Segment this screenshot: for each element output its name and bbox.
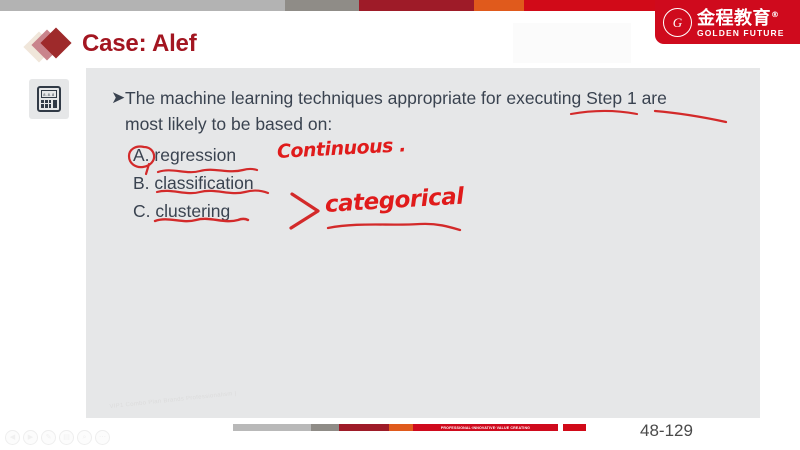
bottom-stripe-segment-dark-red	[339, 424, 389, 431]
slide-page-number: 48-129	[640, 421, 693, 441]
top-stripe-segment-light-gray	[0, 0, 285, 11]
calculator-screen: 8.8.8	[41, 90, 57, 98]
page-title: Case: Alef	[82, 29, 197, 59]
bottom-stripe-segment-dark-gray	[311, 424, 339, 431]
answer-choice-b[interactable]: B. classification	[133, 169, 254, 197]
pen-button[interactable]: ✎	[41, 430, 56, 445]
bottom-stripe-segment-orange	[389, 424, 413, 431]
bullet-arrow-icon: ➤	[111, 88, 125, 108]
zoom-button[interactable]: ⌕	[77, 430, 92, 445]
header-placeholder-box	[513, 23, 631, 63]
brand-name-cn: 金程教育®	[697, 5, 785, 28]
brand-logo: G 金程教育® GOLDEN FUTURE	[655, 0, 800, 44]
brand-seal-icon: G	[663, 8, 692, 37]
diamond-stack-icon	[28, 29, 90, 63]
bottom-stripe-segment-light-gray	[233, 424, 311, 431]
bottom-stripe-segment-red-block	[563, 424, 586, 431]
footer-tagline: PROFESSIONAL·INNOVATIVE·VALUE CREATING	[413, 424, 558, 431]
more-button[interactable]: ⋯	[95, 430, 110, 445]
bottom-stripe-segment-red-tagline: PROFESSIONAL·INNOVATIVE·VALUE CREATING	[413, 424, 558, 431]
answer-choice-a[interactable]: A. regression	[133, 141, 254, 169]
previous-slide-button[interactable]: ◀	[5, 430, 20, 445]
brand-name-en: GOLDEN FUTURE	[697, 28, 785, 39]
question-line-2: most likely to be based on:	[125, 111, 332, 137]
answer-choice-c[interactable]: C. clustering	[133, 197, 254, 225]
question-line-1: The machine learning techniques appropri…	[125, 85, 757, 111]
play-button[interactable]: ▶	[23, 430, 38, 445]
calculator-icon: 8.8.8	[29, 79, 69, 119]
top-stripe-segment-dark-red	[359, 0, 474, 11]
top-stripe-segment-orange	[474, 0, 524, 11]
menu-button[interactable]: ▤	[59, 430, 74, 445]
brand-seal-glyph: G	[673, 16, 682, 29]
top-stripe-segment-dark-gray	[285, 0, 359, 11]
presentation-toolbar[interactable]: ◀▶✎▤⌕⋯	[5, 430, 110, 445]
answer-choice-list: A. regression B. classification C. clust…	[133, 141, 254, 225]
bottom-decorative-stripe: PROFESSIONAL·INNOVATIVE·VALUE CREATING	[233, 424, 586, 431]
